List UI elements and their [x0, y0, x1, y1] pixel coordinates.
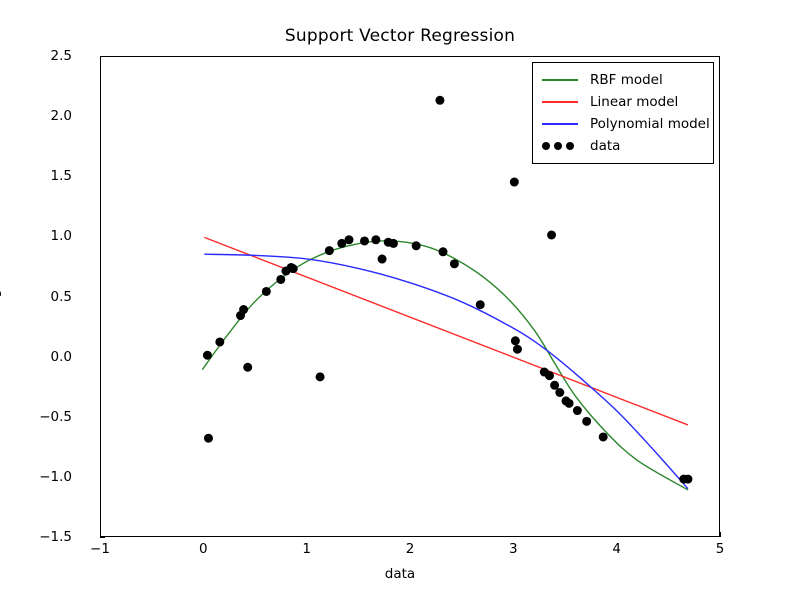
x-tick-label: 0	[183, 541, 223, 557]
x-tick-label: 4	[597, 541, 637, 557]
data-point	[389, 239, 398, 248]
x-tick-label: 2	[390, 541, 430, 557]
legend-item-label: Polynomial model	[590, 116, 710, 132]
data-point	[565, 399, 574, 408]
data-point	[316, 372, 325, 381]
data-point	[435, 96, 444, 105]
legend-line-icon	[540, 95, 580, 109]
data-point	[555, 388, 564, 397]
x-tick-label: 5	[700, 541, 740, 557]
legend-item-label: Linear model	[590, 94, 678, 110]
y-tick-label: −0.5	[12, 409, 72, 425]
x-tick-label: 3	[493, 541, 533, 557]
data-point	[511, 336, 520, 345]
data-point	[204, 434, 213, 443]
data-point	[289, 264, 298, 273]
y-tick-label: 1.0	[12, 228, 72, 244]
legend-item[interactable]: RBF model	[540, 69, 706, 91]
series-line-rbf-model	[202, 241, 688, 490]
series-line-linear-model	[204, 237, 688, 425]
data-point	[450, 259, 459, 268]
legend-item[interactable]: data	[540, 135, 706, 157]
data-point	[550, 381, 559, 390]
legend-item-label: RBF model	[590, 72, 663, 88]
data-point	[510, 178, 519, 187]
data-point	[545, 371, 554, 380]
page-title: Support Vector Regression	[0, 26, 800, 46]
y-tick-label: 1.5	[12, 168, 72, 184]
series-line-polynomial-model	[204, 254, 688, 488]
data-point	[276, 275, 285, 284]
data-point	[262, 287, 271, 296]
y-tick-label: 2.5	[12, 48, 72, 64]
x-tick-label: 1	[287, 541, 327, 557]
legend-item-label: data	[590, 138, 620, 154]
data-point	[371, 235, 380, 244]
legend-swatch	[542, 142, 578, 151]
data-point	[573, 406, 582, 415]
legend-line-icon	[540, 73, 580, 87]
data-point	[360, 236, 369, 245]
data-point	[345, 235, 354, 244]
legend-item[interactable]: Polynomial model	[540, 113, 706, 135]
y-tick-label: 0.0	[12, 349, 72, 365]
data-point	[243, 363, 252, 372]
data-point	[513, 345, 522, 354]
data-point	[476, 300, 485, 309]
legend-swatch	[542, 101, 578, 103]
legend-marker-dots-icon	[540, 139, 580, 153]
figure-canvas: Support Vector Regression target data −1…	[0, 0, 800, 600]
data-point	[683, 475, 692, 484]
x-axis-label: data	[0, 566, 800, 582]
legend-line-icon	[540, 117, 580, 131]
data-point	[599, 432, 608, 441]
legend-swatch	[542, 79, 578, 81]
legend-box: RBF modelLinear modelPolynomial modeldat…	[532, 62, 714, 164]
data-point	[582, 417, 591, 426]
data-point	[412, 241, 421, 250]
y-tick-label: −1.5	[12, 529, 72, 545]
data-point	[439, 247, 448, 256]
y-tick-label: −1.0	[12, 469, 72, 485]
data-point	[547, 230, 556, 239]
y-tick-label: 0.5	[12, 289, 72, 305]
data-point	[378, 255, 387, 264]
y-tick-label: 2.0	[12, 108, 72, 124]
legend-item[interactable]: Linear model	[540, 91, 706, 113]
data-point	[203, 351, 212, 360]
data-point	[325, 246, 334, 255]
data-point	[215, 337, 224, 346]
data-point	[239, 305, 248, 314]
x-tick-label: −1	[80, 541, 120, 557]
y-axis-label: target	[0, 275, 2, 316]
legend-swatch	[542, 123, 578, 125]
